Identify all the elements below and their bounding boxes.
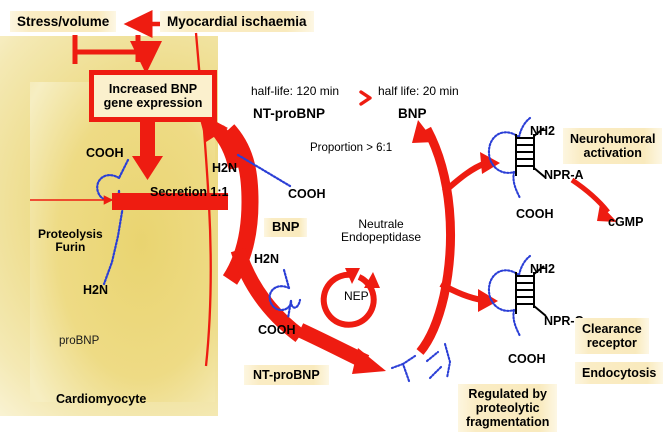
label-halflife-bnp: half life: 20 min: [378, 85, 459, 98]
label-myocardial-ischaemia: Myocardial ischaemia: [160, 11, 314, 32]
fragmented-peptides: [392, 340, 450, 381]
fragmentation-line3: fragmentation: [466, 415, 549, 429]
bnp-pathway-diagram: Stress/volume Myocardial ischaemia Incre…: [0, 0, 665, 432]
label-npr-a-cooh: COOH: [516, 207, 554, 221]
nep-full-line2: Endopeptidase: [341, 230, 421, 244]
label-stress-volume: Stress/volume: [10, 11, 116, 32]
label-nt-probnp-cooh: COOH: [288, 187, 326, 201]
label-nep: NEP: [344, 290, 369, 303]
label-npr-a: NPR-A: [544, 168, 584, 182]
label-npr-c-cooh: COOH: [508, 352, 546, 366]
label-bnp-cooh: COOH: [258, 323, 296, 337]
nt-probnp-fragment-chain: [238, 155, 290, 186]
box-bnp-label: BNP: [264, 218, 307, 237]
proteolysis-line1: Proteolysis: [38, 227, 103, 241]
label-probnp-h2n: H2N: [83, 283, 108, 297]
clearance-line1: Clearance: [582, 322, 642, 336]
gene-box-line2: gene expression: [104, 96, 203, 110]
label-bnp-h2n: H2N: [254, 252, 279, 266]
bnp-ring-peptide: [270, 270, 300, 318]
box-neurohumoral-activation: Neurohumoral activation: [563, 128, 662, 164]
clearance-line2: receptor: [587, 336, 637, 350]
label-cgmp: cGMP: [608, 215, 643, 229]
box-clearance-receptor: Clearance receptor: [575, 318, 649, 354]
label-npr-a-nh2: NH2: [530, 124, 555, 138]
label-npr-c-nh2: NH2: [530, 262, 555, 276]
label-halflife-nt-probnp: half-life: 120 min: [251, 85, 339, 98]
neurohumoral-line1: Neurohumoral: [570, 132, 655, 146]
box-nt-probnp-label: NT-proBNP: [244, 365, 329, 385]
label-cardiomyocyte: Cardiomyocyte: [56, 392, 146, 406]
label-neutral-endopeptidase: Neutrale Endopeptidase: [341, 218, 421, 245]
label-probnp-cooh: COOH: [86, 146, 124, 160]
label-probnp: proBNP: [59, 335, 99, 348]
label-proteolysis-furin: Proteolysis Furin: [38, 228, 103, 255]
box-endocytosis: Endocytosis: [575, 362, 663, 384]
label-bnp: BNP: [398, 106, 427, 121]
label-nt-probnp: NT-proBNP: [253, 106, 325, 121]
nep-full-line1: Neutrale: [358, 217, 403, 231]
halflife-chevron-icon: [361, 92, 370, 104]
box-regulated-by-proteolytic-fragmentation: Regulated by proteolytic fragmentation: [458, 384, 557, 432]
box-increased-bnp-gene-expression: Increased BNP gene expression: [89, 70, 217, 122]
neurohumoral-line2: activation: [584, 146, 642, 160]
label-proportion: Proportion > 6:1: [310, 142, 392, 155]
fragmentation-line1: Regulated by: [468, 387, 547, 401]
arrow-bnp-to-receptors: [412, 120, 500, 352]
label-secretion-ratio: Secretion 1:1: [150, 185, 229, 199]
proteolysis-line2: Furin: [55, 240, 85, 254]
fragmentation-line2: proteolytic: [476, 401, 540, 415]
label-nt-probnp-h2n: H2N: [212, 161, 237, 175]
gene-box-line1: Increased BNP: [109, 82, 197, 96]
